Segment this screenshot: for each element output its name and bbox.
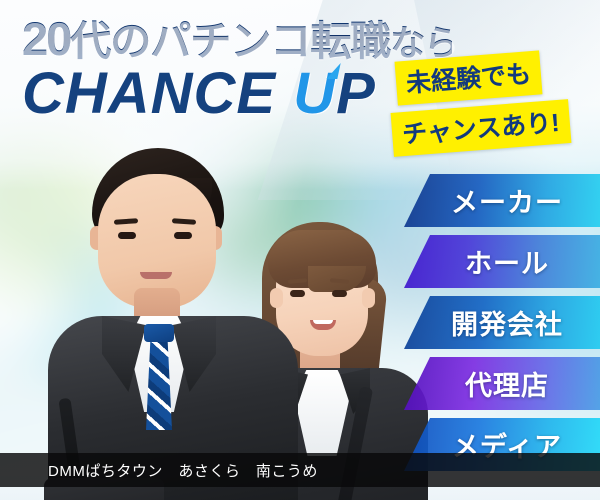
woman-ear-right [362, 288, 375, 308]
headline-age-number: 20 [22, 12, 70, 65]
chip-developer[interactable]: 開発会社 [404, 296, 600, 349]
logo-u-letter: U [293, 65, 336, 123]
chip-agency[interactable]: 代理店 [404, 357, 600, 410]
chip-hall[interactable]: ホール [404, 235, 600, 288]
headline-line-2: CHANCE UP [22, 65, 452, 123]
man-tie-knot [144, 324, 174, 342]
chip-hall-label: ホール [455, 242, 549, 281]
logo-chance-word: CHANCE [22, 61, 276, 126]
credit-text: DMMぱちタウン あさくら 南こうめ [0, 460, 318, 481]
headline-line-1: 20代のパチンコ転職なら [22, 14, 452, 63]
yellow-badge-group: 未経験でも チャンスあり! [396, 56, 570, 150]
badge-chance-available: チャンスあり! [391, 99, 571, 157]
man-eye-left [118, 232, 136, 239]
headline-block: 20代のパチンコ転職なら CHANCE UP [22, 14, 452, 123]
credit-bar: DMMぱちタウン あさくら 南こうめ [0, 453, 600, 487]
man-mouth [140, 272, 172, 279]
woman-eye-right [332, 290, 347, 297]
promo-banner: 20代のパチンコ転職なら CHANCE UP 未経験でも チャンスあり! メーカ… [0, 0, 600, 500]
chip-maker-label: メーカー [441, 181, 563, 220]
people-photo [0, 140, 430, 500]
logo-p-letter: P [336, 61, 376, 126]
chip-maker[interactable]: メーカー [404, 174, 600, 227]
badge-no-experience: 未経験でも [394, 50, 542, 105]
man-model [48, 148, 298, 500]
category-chip-list: メーカー ホール 開発会社 代理店 メディア [404, 174, 600, 479]
chip-agency-label: 代理店 [455, 364, 549, 403]
man-eye-right [174, 232, 192, 239]
headline-line-1-main: 代のパチンコ転職 [70, 18, 390, 64]
chip-developer-label: 開発会社 [441, 303, 563, 342]
